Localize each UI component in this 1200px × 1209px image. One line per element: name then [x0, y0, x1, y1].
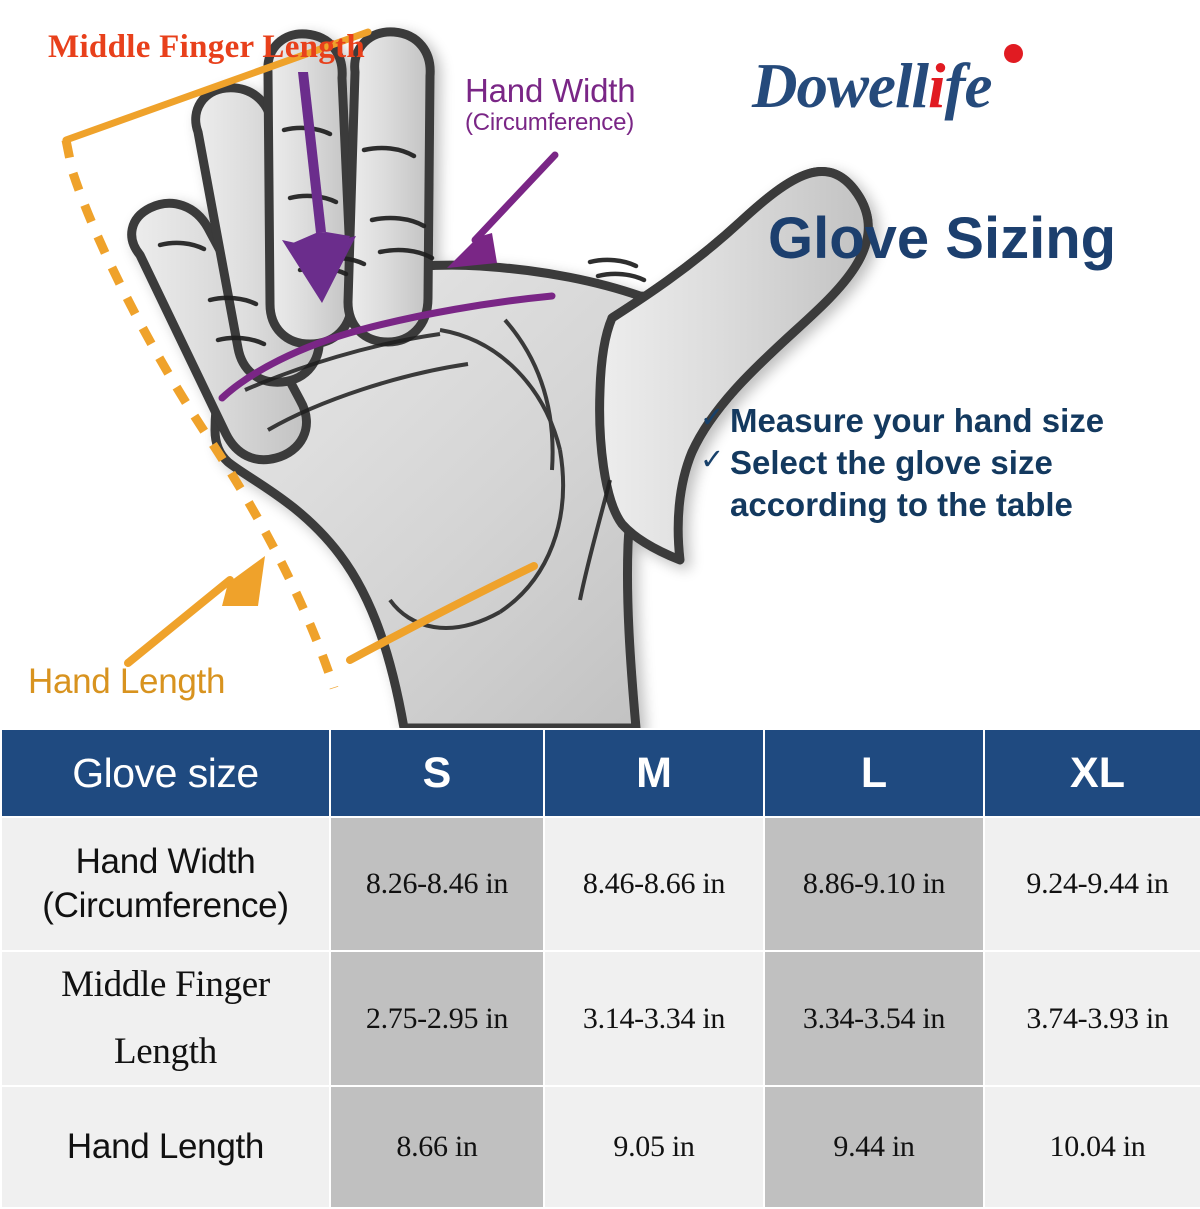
cell-hand-width-l: 8.86-9.10 in [764, 817, 984, 951]
instructions-list: ✓ Measure your hand size ✓ Select the gl… [700, 400, 1180, 527]
cell-hand-width-s: 8.26-8.46 in [330, 817, 544, 951]
cell-hand-length-xl: 10.04 in [984, 1086, 1200, 1208]
cell-hand-width-m: 8.46-8.66 in [544, 817, 764, 951]
table-row: Hand Width (Circumference) 8.26-8.46 in … [1, 817, 1200, 951]
row-label-middle-finger-length-line2: Length [2, 1019, 329, 1086]
hand-length-pointer [128, 556, 265, 663]
brand-logo: Dowellife [752, 50, 991, 123]
hand-width-label-sub: (Circumference) [465, 110, 635, 135]
hand-width-label: Hand Width (Circumference) [465, 74, 635, 135]
table-row: Middle Finger Length 2.75-2.95 in 3.14-3… [1, 951, 1200, 1086]
cell-hand-length-l: 9.44 in [764, 1086, 984, 1208]
table-header-cell-s[interactable]: S [330, 729, 544, 817]
row-label-hand-width-line2: (Circumference) [2, 884, 329, 928]
instruction-item-2-text: Select the glove size [730, 442, 1180, 484]
table-header-row: Glove size S M L XL [1, 729, 1200, 817]
size-m-label: M [636, 749, 672, 797]
brand-name-accent-letter: i [928, 51, 945, 121]
brand-name-part2: fe [945, 51, 992, 121]
glove-size-table: Glove size S M L XL Hand Width [0, 728, 1200, 1209]
instruction-item-1: ✓ Measure your hand size [700, 400, 1180, 442]
table-row: Hand Length 8.66 in 9.05 in 9.44 in 10.0… [1, 1086, 1200, 1208]
brand-red-dot-icon [1004, 44, 1023, 63]
table-header-cell-xl[interactable]: XL [984, 729, 1200, 817]
row-label-hand-width: Hand Width (Circumference) [1, 817, 330, 951]
cell-hand-length-s: 8.66 in [330, 1086, 544, 1208]
hand-length-label: Hand Length [28, 664, 225, 701]
hand-width-label-main: Hand Width [465, 74, 635, 109]
page-title: Glove Sizing [768, 205, 1116, 272]
cell-hand-length-m: 9.05 in [544, 1086, 764, 1208]
middle-finger-length-label: Middle Finger Length [48, 30, 365, 65]
size-s-label: S [423, 749, 452, 797]
instruction-item-1-text: Measure your hand size [730, 400, 1180, 442]
table-header-cell-l[interactable]: L [764, 729, 984, 817]
table-header-label-text: Glove size [72, 750, 258, 796]
row-label-middle-finger-length: Middle Finger Length [1, 951, 330, 1086]
cell-middle-finger-length-s: 2.75-2.95 in [330, 951, 544, 1086]
size-xl-label: XL [1070, 749, 1125, 797]
instruction-item-2-text-line2: according to the table [730, 484, 1180, 526]
glove-sizing-infographic: Middle Finger Length Hand Width (Circumf… [0, 0, 1200, 1200]
check-icon: ✓ [700, 442, 730, 479]
row-label-hand-length: Hand Length [1, 1086, 330, 1208]
hand-width-pointer [447, 155, 555, 268]
table-header-cell-label: Glove size [1, 729, 330, 817]
row-label-middle-finger-length-line1: Middle Finger [2, 952, 329, 1019]
row-label-hand-length-line1: Hand Length [2, 1125, 329, 1169]
cell-hand-width-xl: 9.24-9.44 in [984, 817, 1200, 951]
brand-name-part1: Dowell [752, 51, 928, 121]
hand-measurement-diagram: Middle Finger Length Hand Width (Circumf… [0, 0, 1200, 728]
row-label-hand-width-line1: Hand Width [2, 840, 329, 884]
cell-middle-finger-length-xl: 3.74-3.93 in [984, 951, 1200, 1086]
cell-middle-finger-length-m: 3.14-3.34 in [544, 951, 764, 1086]
table-header-cell-m[interactable]: M [544, 729, 764, 817]
cell-middle-finger-length-l: 3.34-3.54 in [764, 951, 984, 1086]
size-l-label: L [861, 749, 887, 797]
check-icon: ✓ [700, 400, 730, 437]
instruction-item-2: ✓ Select the glove size [700, 442, 1180, 484]
